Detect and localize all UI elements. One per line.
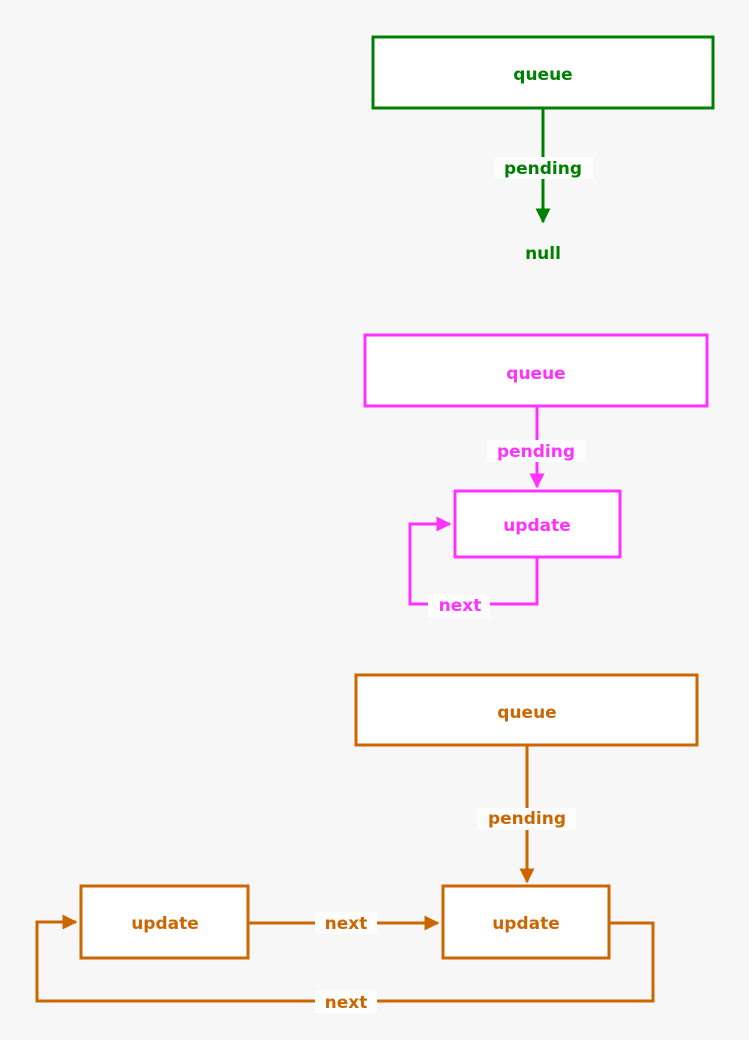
node-update-first-label: update: [131, 914, 199, 934]
node-update-second-label: update: [492, 914, 560, 934]
diagram-empty-queue: queue pending null: [373, 37, 713, 264]
edge-next-forward-label: next: [325, 914, 368, 934]
edge-pending-two-label: pending: [488, 809, 566, 829]
edge-next-selfloop-label: next: [439, 596, 482, 616]
edge-pending-single-label: pending: [497, 442, 575, 462]
react-update-queue-diagram: queue pending null queue pending update …: [0, 0, 749, 1040]
diagram-single-update-queue: queue pending update next: [365, 335, 707, 617]
node-queue-empty-label: queue: [513, 65, 572, 85]
edge-next-wrap-label: next: [325, 993, 368, 1013]
node-queue-single-label: queue: [506, 364, 565, 384]
diagram-canvas: queue pending null queue pending update …: [0, 0, 749, 1040]
node-queue-two-label: queue: [497, 703, 556, 723]
edge-pending-empty-label: pending: [504, 159, 582, 179]
node-null-label: null: [525, 244, 561, 264]
node-update-single-label: update: [503, 516, 571, 536]
diagram-two-update-queue: queue pending update update next next: [37, 675, 697, 1013]
